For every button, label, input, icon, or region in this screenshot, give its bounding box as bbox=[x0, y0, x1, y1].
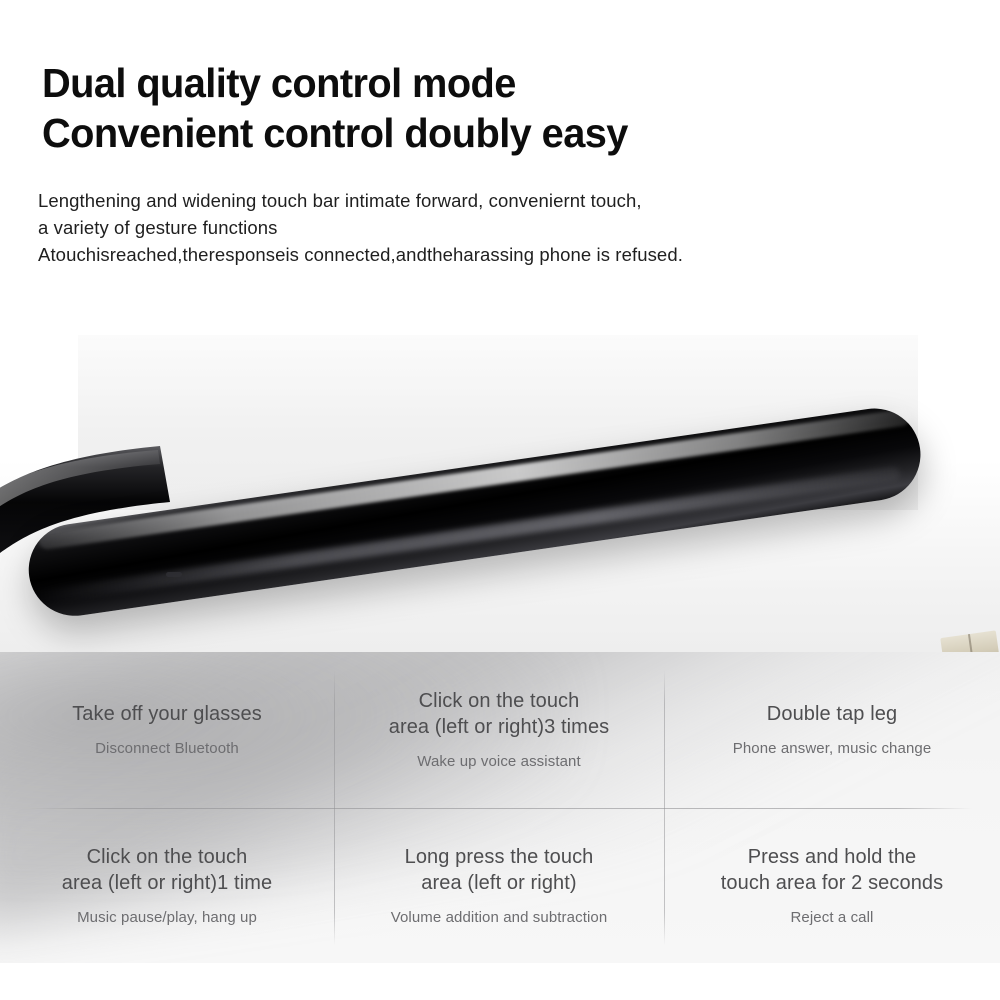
page-headline: Dual quality control mode Convenient con… bbox=[42, 58, 942, 158]
gesture-cell-triple-click: Click on the touch area (left or right)3… bbox=[334, 652, 664, 807]
gesture-subtitle: Wake up voice assistant bbox=[417, 752, 580, 772]
subcopy-line-1: Lengthening and widening touch bar intim… bbox=[38, 187, 968, 214]
gesture-subtitle: Volume addition and subtraction bbox=[391, 908, 608, 928]
headline-line-2: Convenient control doubly easy bbox=[42, 108, 915, 158]
gesture-subtitle: Music pause/play, hang up bbox=[77, 908, 257, 928]
subcopy-line-2: a variety of gesture functions bbox=[38, 214, 968, 241]
page-bottom-margin bbox=[0, 963, 1000, 1000]
gesture-title: Click on the touch area (left or right)1… bbox=[62, 844, 272, 896]
earphone-arm-group bbox=[0, 290, 1000, 680]
gesture-title: Press and hold the touch area for 2 seco… bbox=[721, 844, 944, 896]
gesture-cell-take-off-glasses: Take off your glasses Disconnect Bluetoo… bbox=[0, 652, 334, 807]
grid-divider-horizontal bbox=[28, 808, 972, 809]
gesture-title: Double tap leg bbox=[767, 701, 897, 727]
gesture-title: Take off your glasses bbox=[72, 701, 262, 727]
gesture-cell-press-hold-2s: Press and hold the touch area for 2 seco… bbox=[664, 808, 1000, 963]
gesture-grid-row-2: Click on the touch area (left or right)1… bbox=[0, 808, 1000, 963]
gesture-title: Long press the touch area (left or right… bbox=[405, 844, 594, 896]
gesture-subtitle: Disconnect Bluetooth bbox=[95, 739, 239, 759]
gesture-subtitle: Phone answer, music change bbox=[733, 739, 932, 759]
subcopy-line-3: Atouchisreached,theresponseis connected,… bbox=[38, 241, 968, 268]
gesture-subtitle: Reject a call bbox=[790, 908, 873, 928]
gesture-grid-row-1: Take off your glasses Disconnect Bluetoo… bbox=[0, 652, 1000, 807]
gesture-cell-long-press: Long press the touch area (left or right… bbox=[334, 808, 664, 963]
gesture-cell-single-click: Click on the touch area (left or right)1… bbox=[0, 808, 334, 963]
gesture-feature-grid: Take off your glasses Disconnect Bluetoo… bbox=[0, 652, 1000, 963]
gesture-title: Click on the touch area (left or right)3… bbox=[389, 688, 610, 740]
headline-line-1: Dual quality control mode bbox=[42, 58, 915, 108]
product-hero-image bbox=[0, 290, 1000, 680]
subcopy-block: Lengthening and widening touch bar intim… bbox=[38, 187, 968, 268]
gesture-cell-double-tap-leg: Double tap leg Phone answer, music chang… bbox=[664, 652, 1000, 807]
microphone-port bbox=[166, 572, 182, 577]
gesture-grid-table: Take off your glasses Disconnect Bluetoo… bbox=[0, 652, 1000, 963]
